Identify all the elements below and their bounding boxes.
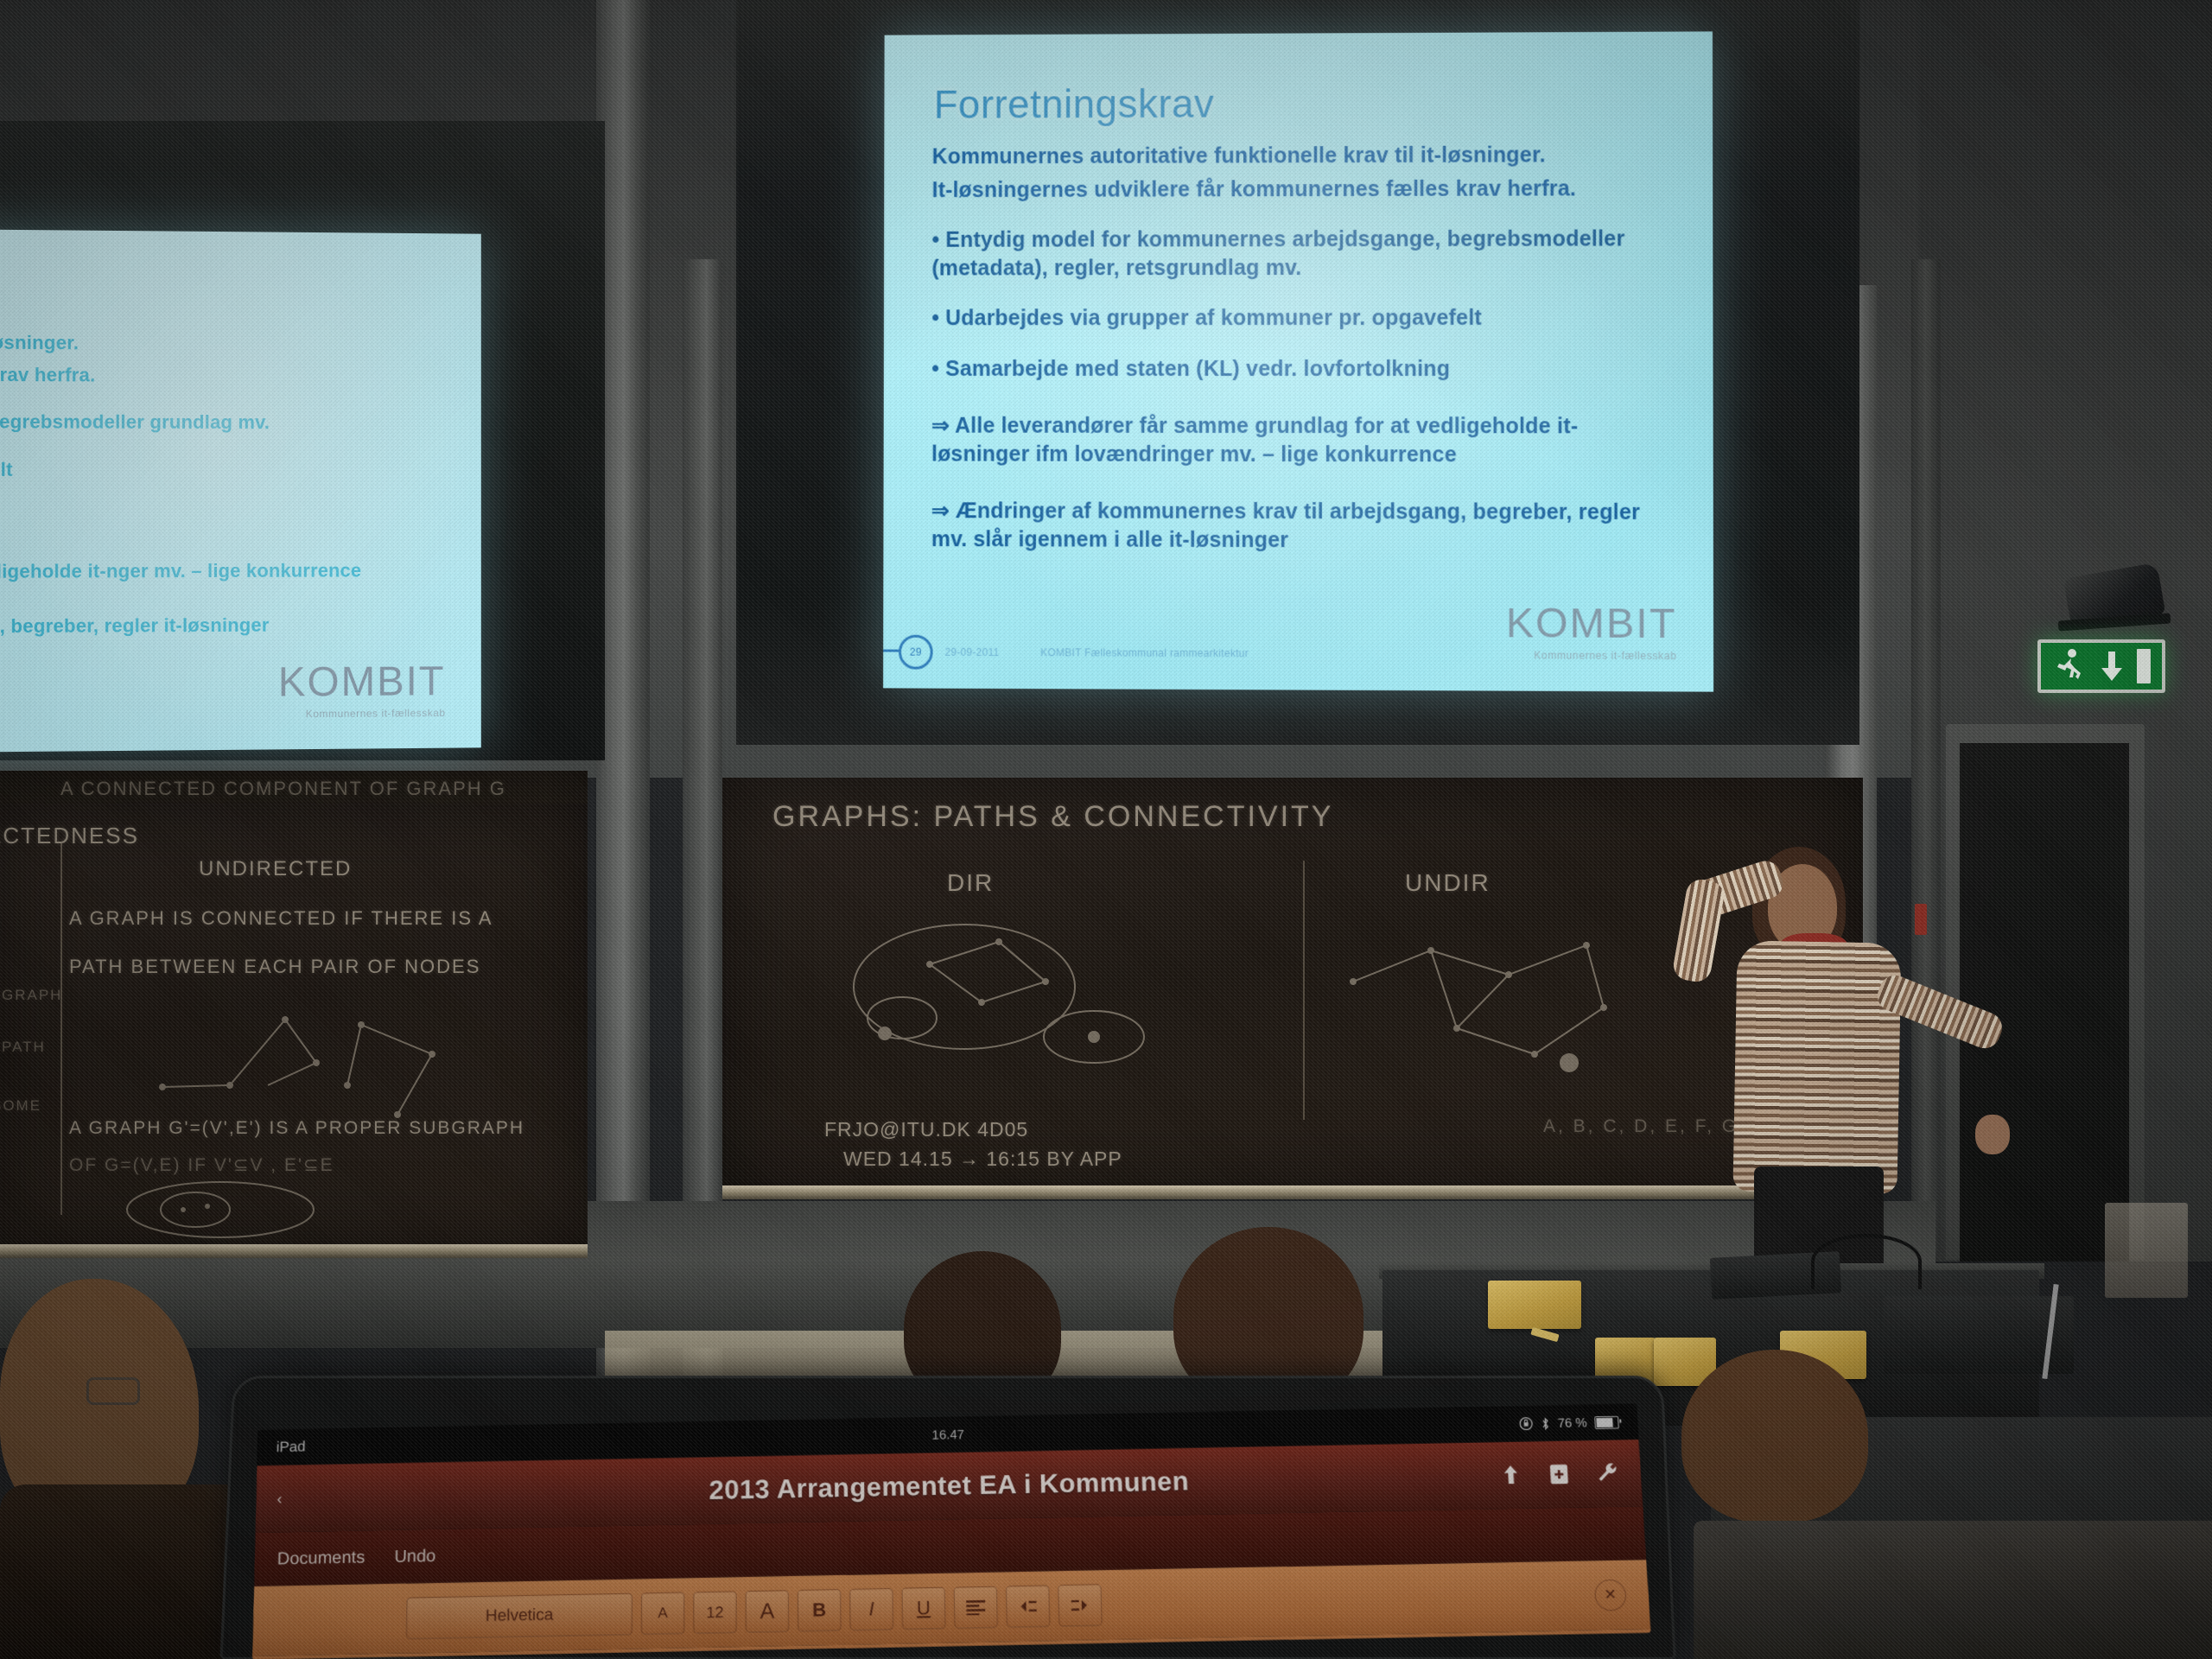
- chalk-label-dir: DIR: [947, 869, 994, 897]
- chalk-right-divider: [1303, 861, 1305, 1120]
- lecture-hall-photo: v ative funktionelle krav til it-løsning…: [0, 0, 2212, 1659]
- chalk-left-margin-2: PATH: [2, 1039, 46, 1056]
- presenter-hand: [1975, 1115, 2010, 1154]
- close-keyboard-button[interactable]: ✕: [1594, 1580, 1627, 1611]
- main-slide-content: Forretningskrav Kommunernes autoritative…: [883, 31, 1713, 691]
- column-right: [1911, 259, 1941, 1253]
- down-arrow-icon: [2100, 649, 2124, 683]
- emergency-exit-sign: [2037, 639, 2165, 693]
- left-kombit-tagline: Kommunernes it-fællesskab: [278, 707, 446, 720]
- ipad-screen[interactable]: iPad 16.47 76 % ‹ 2013 Arr: [252, 1404, 1651, 1659]
- foreground-laptop: iPad 16.47 76 % ‹ 2013 Arr: [219, 1376, 1675, 1659]
- left-slide-bullet-2: er af kommuner pr. opgavefelt: [0, 457, 430, 482]
- undirected-graph-sketch: [1327, 925, 1707, 1097]
- fire-alarm-point: [1915, 904, 1927, 935]
- slide-arrow-2: ⇒ Ændringer af kommunernes krav til arbe…: [931, 497, 1673, 555]
- left-slide-lead-2: re får kommunernes fælles krav herfra.: [0, 361, 430, 389]
- eraser-sponge-1: [1488, 1281, 1581, 1329]
- doorway: [1960, 743, 2129, 1262]
- venn-sketch-left: [121, 1175, 320, 1244]
- chalk-left-top-line: A CONNECTED COMPONENT OF GRAPH G: [60, 778, 506, 800]
- chalk-left-subhead: UNDIRECTED: [199, 857, 352, 881]
- indent-icon: [1071, 1599, 1090, 1613]
- slide-bullet-1: • Entydig model for kommunernes arbejdsg…: [931, 225, 1673, 282]
- align-button[interactable]: [954, 1586, 998, 1629]
- left-slide-arrow-2: unernes krav til arbejdsgang, begreber, …: [0, 613, 430, 640]
- left-slide-kombit-logo: KOMBIT Kommunernes it-fællesskab: [278, 658, 446, 720]
- slide-footer-date: 29-09-2011: [944, 646, 999, 658]
- bold-button[interactable]: B: [798, 1589, 842, 1631]
- ipad-undo-button[interactable]: Undo: [394, 1546, 435, 1567]
- font-decrease-button[interactable]: A: [641, 1592, 684, 1635]
- presenter-torso: [1732, 940, 1901, 1193]
- slide-lead-1: Kommunernes autoritative funktionelle kr…: [932, 141, 1673, 171]
- chalk-left-divider: [60, 843, 62, 1215]
- slide-arrow-1: ⇒ Alle leverandører får samme grundlag f…: [931, 412, 1673, 469]
- chalk-left-margin-3: SOME: [0, 1097, 41, 1115]
- italic-button[interactable]: I: [849, 1588, 893, 1630]
- slide-number-badge: 29: [899, 635, 933, 670]
- slide-footer-text: KOMBIT Fælleskommunal rammearkitektur: [1040, 646, 1249, 659]
- running-person-icon: [2052, 648, 2087, 684]
- kombit-tagline: Kommunernes it-fællesskab: [1506, 649, 1677, 662]
- slide-lead-2: It-løsningernes udviklere får kommunerne…: [932, 175, 1673, 204]
- left-slide-bullet-1: mmunernes arbejdsgange, begrebsmodeller …: [0, 410, 430, 436]
- align-left-icon: [966, 1599, 986, 1616]
- chalk-left-heading: ECTEDNESS: [0, 823, 139, 849]
- audience-glasses: [86, 1377, 140, 1405]
- slide-footer: 29 29-09-2011 KOMBIT Fælleskommunal ramm…: [899, 635, 1249, 671]
- font-increase-button[interactable]: A: [746, 1590, 790, 1632]
- ipad-documents-button[interactable]: Documents: [277, 1548, 365, 1569]
- left-projection-screen: v ative funktionelle krav til it-løsning…: [0, 229, 481, 752]
- audience-head-3: [1681, 1350, 1868, 1522]
- chalk-left-margin-1: GRAPH: [2, 987, 62, 1004]
- chalk-right-note-hours: WED 14.15 → 16:15 BY APP: [843, 1147, 1122, 1171]
- board-rail-right: [722, 1185, 1863, 1199]
- chalk-right-note-email: FRJO@ITU.DK 4D05: [824, 1118, 1028, 1141]
- directed-graph-sketch: [835, 907, 1267, 1097]
- blackboard-right: GRAPHS: PATHS & CONNECTIVITY DIR UNDIR: [722, 778, 1863, 1192]
- underline-button[interactable]: U: [901, 1587, 945, 1630]
- chalk-left-note-4: OF G=(V,E) IF V'⊆V , E'⊆E: [69, 1154, 334, 1176]
- battery-icon: [1594, 1415, 1619, 1428]
- left-kombit-wordmark: KOMBIT: [278, 658, 446, 706]
- cable-loop: [1811, 1234, 1922, 1289]
- chalk-label-undir: UNDIR: [1405, 869, 1491, 897]
- slide-kombit-logo: KOMBIT Kommunernes it-fællesskab: [1506, 600, 1677, 662]
- board-rail-left: [0, 1244, 588, 1258]
- chalk-right-heading: GRAPHS: PATHS & CONNECTIVITY: [772, 800, 1333, 834]
- chalk-left-note-1: A GRAPH IS CONNECTED IF THERE IS A: [69, 907, 493, 930]
- slide-bullet-3: • Samarbejde med staten (KL) vedr. lovfo…: [931, 354, 1673, 383]
- left-slide-title: v: [0, 271, 430, 318]
- left-slide-bullet-3: en (KL) vedr. lovfortolkning: [0, 505, 430, 530]
- kombit-wordmark: KOMBIT: [1506, 600, 1677, 648]
- graph-sketch-left: [147, 1002, 518, 1123]
- font-family-selector[interactable]: Helvetica: [406, 1593, 632, 1639]
- outdent-icon: [1018, 1599, 1038, 1614]
- indent-button[interactable]: [1058, 1584, 1103, 1626]
- exit-door-icon: [2137, 649, 2151, 683]
- blackboard-left: ECTEDNESS UNDIRECTED A GRAPH IS CONNECTE…: [0, 804, 588, 1253]
- left-slide-lead-1: ative funktionelle krav til it-løsninger…: [0, 329, 430, 358]
- font-size-value[interactable]: 12: [693, 1591, 737, 1633]
- left-slide-arrow-1: r samme grundlag for at vedligeholde it-…: [0, 558, 430, 585]
- slide-title: Forretningskrav: [934, 79, 1673, 128]
- side-equipment: [2105, 1203, 2188, 1298]
- slide-bullet-2: • Udarbejdes via grupper af kommuner pr.…: [931, 304, 1673, 333]
- foreground-seat: [1694, 1521, 2212, 1659]
- chalk-left-note-2: PATH BETWEEN EACH PAIR OF NODES: [69, 956, 480, 978]
- main-projection-screen: Forretningskrav Kommunernes autoritative…: [883, 31, 1713, 691]
- ipad-document-title: 2013 Arrangementet EA i Kommunen: [256, 1458, 1642, 1515]
- outdent-button[interactable]: [1006, 1585, 1050, 1627]
